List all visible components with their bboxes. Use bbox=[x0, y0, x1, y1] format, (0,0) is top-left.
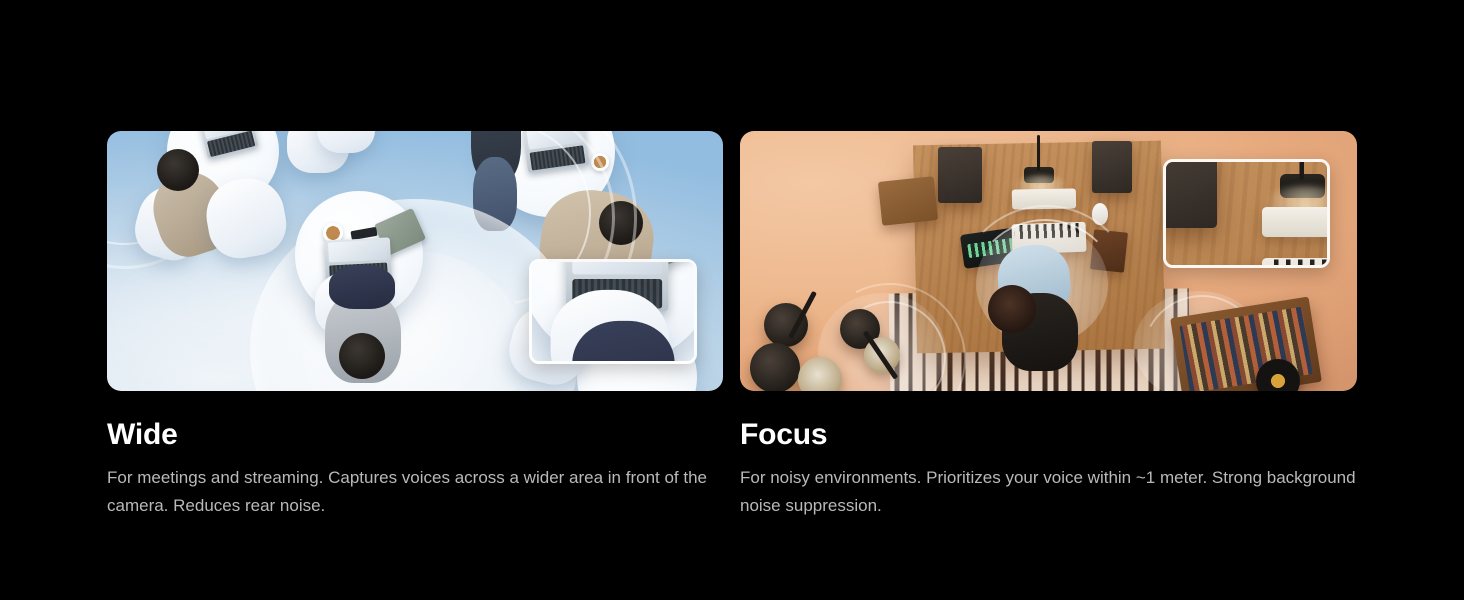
studio-speaker bbox=[938, 147, 982, 203]
focus-description: For noisy environments. Prioritizes your… bbox=[740, 464, 1357, 519]
lamp-arm bbox=[1300, 159, 1305, 180]
wooden-amp-box bbox=[878, 176, 938, 226]
person-head bbox=[988, 285, 1036, 333]
laptop-screen bbox=[328, 239, 387, 262]
wide-caption: Wide For meetings and streaming. Capture… bbox=[107, 418, 723, 519]
focus-inset-thumbnail bbox=[1163, 159, 1330, 268]
person-head bbox=[157, 149, 199, 191]
focus-image bbox=[740, 131, 1357, 391]
floor-tom bbox=[750, 343, 800, 391]
person bbox=[982, 239, 1102, 379]
wide-image bbox=[107, 131, 723, 391]
focus-caption: Focus For noisy environments. Prioritize… bbox=[740, 418, 1357, 519]
card-wide: Wide For meetings and streaming. Capture… bbox=[107, 131, 723, 519]
lamp-arm bbox=[1037, 135, 1040, 171]
mic-modes-comparison: Wide For meetings and streaming. Capture… bbox=[0, 0, 1464, 600]
person-head bbox=[339, 333, 385, 379]
computer-keyboard bbox=[1262, 207, 1330, 237]
midi-keyboard bbox=[1262, 258, 1330, 268]
focus-inset-content bbox=[1163, 159, 1330, 268]
wide-inset-thumbnail bbox=[529, 259, 697, 364]
card-focus: Focus For noisy environments. Prioritize… bbox=[740, 131, 1357, 519]
person bbox=[307, 261, 417, 383]
wide-description: For meetings and streaming. Captures voi… bbox=[107, 464, 723, 519]
focus-title: Focus bbox=[740, 418, 1357, 452]
studio-speaker bbox=[1092, 141, 1132, 193]
midi-black-keys bbox=[1266, 260, 1330, 268]
studio-speaker bbox=[1163, 159, 1217, 228]
laptop-screen bbox=[572, 259, 662, 274]
wide-title: Wide bbox=[107, 418, 723, 452]
wide-inset-content bbox=[529, 259, 697, 364]
person-lap bbox=[329, 265, 395, 309]
